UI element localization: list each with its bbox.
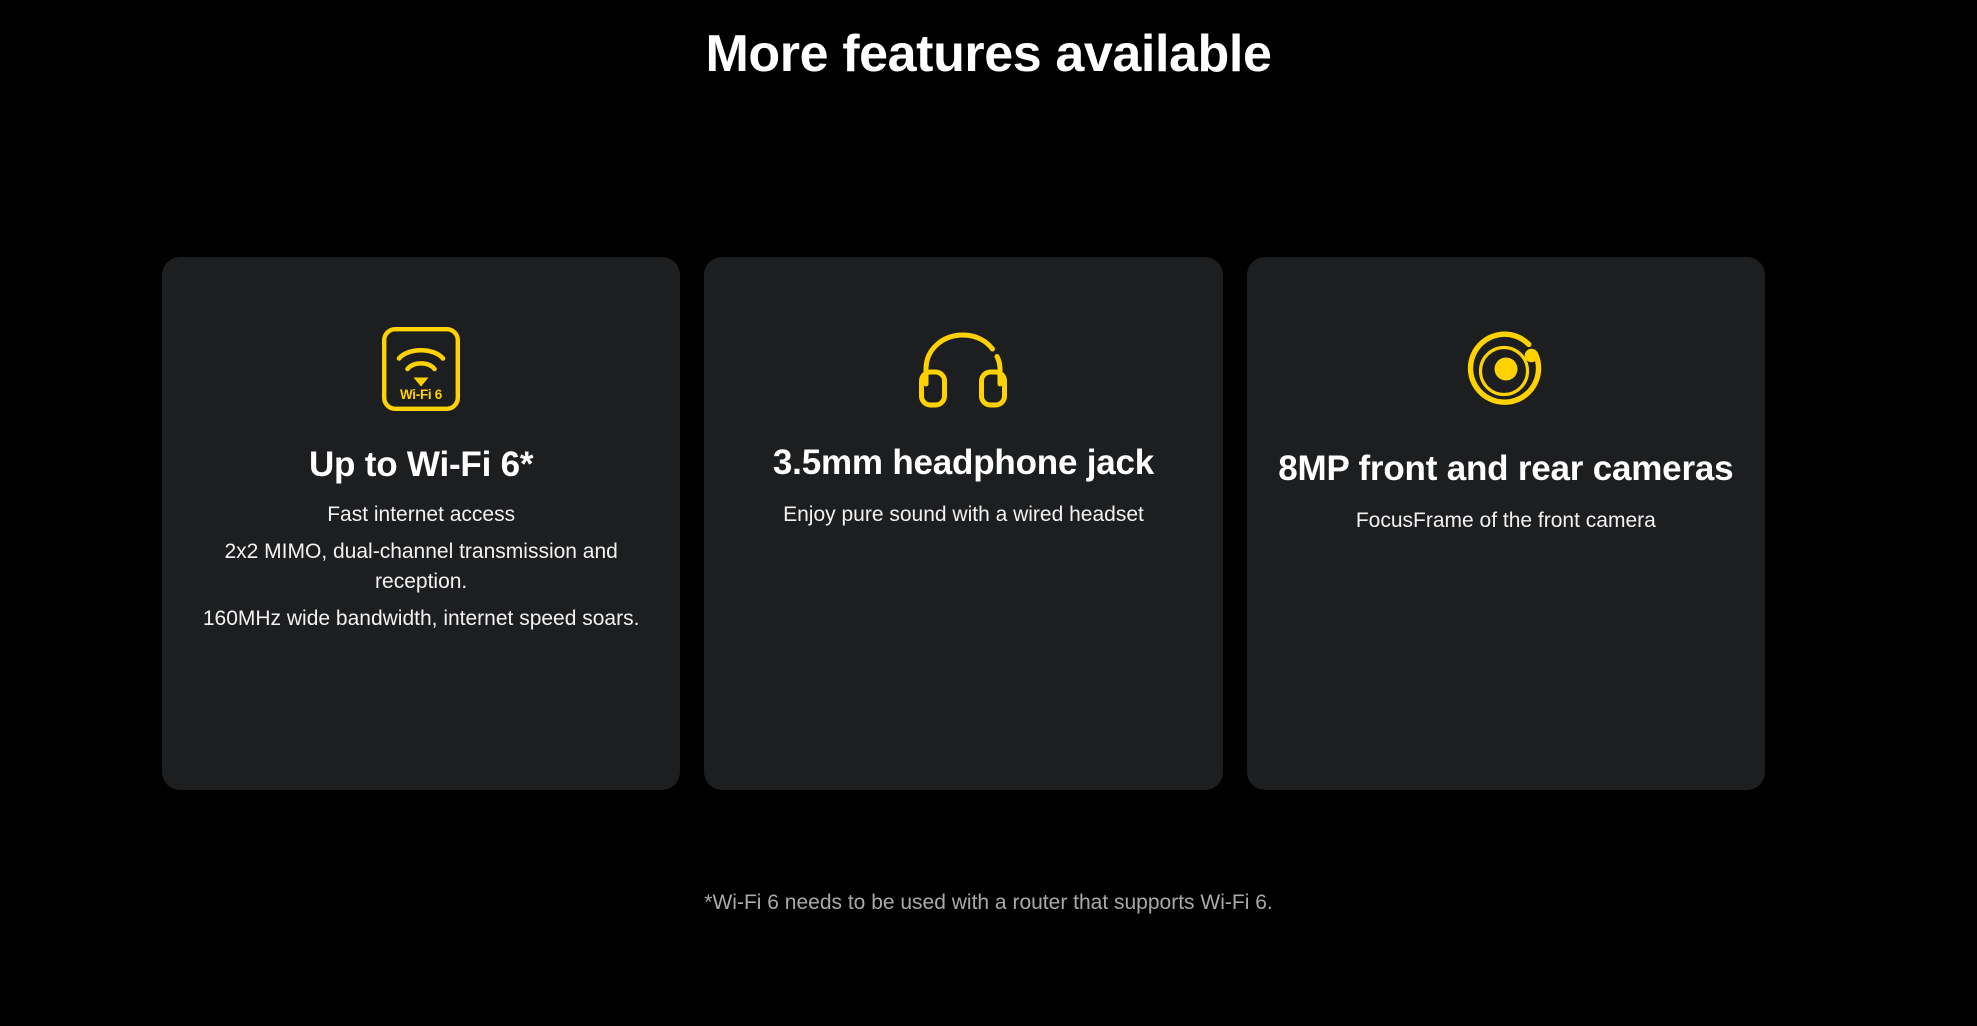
camera-focus-frame-icon [1465, 323, 1547, 415]
more-features-section: More features available Wi-Fi 6 Up to Wi… [0, 0, 1977, 1026]
card-body: Fast internet access 2x2 MIMO, dual-chan… [162, 500, 680, 634]
footnote-text: *Wi-Fi 6 needs to be used with a router … [0, 888, 1977, 918]
card-title: 3.5mm headphone jack [755, 441, 1172, 484]
card-body: FocusFrame of the front camera [1334, 506, 1678, 536]
headphones-icon [917, 323, 1009, 415]
card-paragraph: 160MHz wide bandwidth, internet speed so… [184, 604, 658, 634]
feature-card-row: Wi-Fi 6 Up to Wi-Fi 6* Fast internet acc… [162, 257, 1765, 790]
svg-text:Wi-Fi 6: Wi-Fi 6 [400, 387, 443, 402]
card-paragraph: 2x2 MIMO, dual-channel transmission and … [184, 537, 658, 597]
card-title: 8MP front and rear cameras [1260, 447, 1751, 490]
card-paragraph: FocusFrame of the front camera [1356, 506, 1656, 536]
card-title: Up to Wi-Fi 6* [291, 443, 551, 486]
card-paragraph: Fast internet access [184, 500, 658, 530]
card-paragraph: Enjoy pure sound with a wired headset [783, 500, 1144, 530]
card-body: Enjoy pure sound with a wired headset [761, 500, 1166, 530]
wifi-6-icon: Wi-Fi 6 [382, 323, 460, 415]
feature-card-headphone-jack[interactable]: 3.5mm headphone jack Enjoy pure sound wi… [704, 257, 1222, 790]
feature-card-cameras[interactable]: 8MP front and rear cameras FocusFrame of… [1247, 257, 1765, 790]
page-title: More features available [0, 18, 1977, 90]
feature-card-wifi-6[interactable]: Wi-Fi 6 Up to Wi-Fi 6* Fast internet acc… [162, 257, 680, 790]
